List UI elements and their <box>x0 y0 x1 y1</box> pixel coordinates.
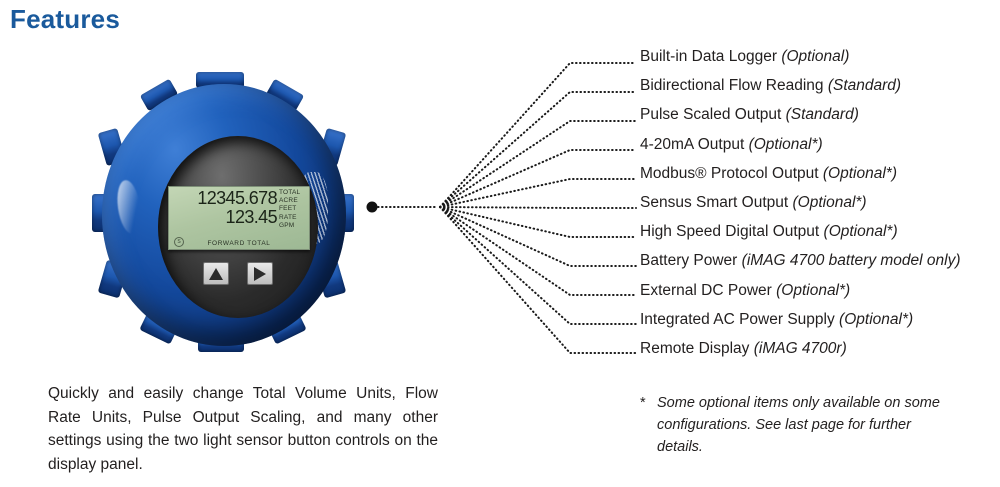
feature-item: Pulse Scaled Output (Standard) <box>640 100 1000 129</box>
feature-qualifier: (Optional*) <box>824 223 898 240</box>
meter-caption-text: Quickly and easily change Total Volume U… <box>48 382 438 476</box>
feature-qualifier: (iMAG 4700r) <box>754 340 847 357</box>
feature-label: Integrated AC Power Supply <box>640 311 835 328</box>
feature-item: External DC Power (Optional*) <box>640 276 1000 305</box>
features-list: Built-in Data Logger (Optional) Bidirect… <box>640 42 1000 363</box>
feature-item: Remote Display (iMAG 4700r) <box>640 334 1000 363</box>
lcd-display: 12345.678 123.45 TOTAL ACRE FEET RATE GP… <box>168 186 310 250</box>
feature-qualifier: (Optional*) <box>776 282 850 299</box>
lcd-rate-value: 123.45 <box>173 208 277 227</box>
footnote-marker: * <box>640 392 646 414</box>
feature-item: Integrated AC Power Supply (Optional*) <box>640 305 1000 334</box>
feature-item: Modbus® Protocol Output (Optional*) <box>640 159 1000 188</box>
right-arrow-icon <box>254 267 266 281</box>
meter-housing: 12345.678 123.45 TOTAL ACRE FEET RATE GP… <box>102 84 346 346</box>
feature-qualifier: (Optional*) <box>839 311 913 328</box>
feature-label: Bidirectional Flow Reading <box>640 77 824 94</box>
feature-item: Battery Power (iMAG 4700 battery model o… <box>640 246 1000 275</box>
feature-qualifier: (Optional*) <box>793 194 867 211</box>
feature-item: Built-in Data Logger (Optional) <box>640 42 1000 71</box>
feature-qualifier: (iMAG 4700 battery model only) <box>742 252 961 269</box>
feature-label: High Speed Digital Output <box>640 223 819 240</box>
lcd-unit-line: RATE <box>279 214 309 222</box>
feature-item: Sensus Smart Output (Optional*) <box>640 188 1000 217</box>
feature-label: Pulse Scaled Output <box>640 106 781 123</box>
feature-label: Sensus Smart Output <box>640 194 788 211</box>
callout-origin-dot <box>367 202 378 213</box>
lcd-unit-line: GPM <box>279 222 309 230</box>
lcd-mode-label: FORWARD TOTAL <box>169 240 309 247</box>
lcd-unit-line: ACRE <box>279 197 309 205</box>
feature-item: High Speed Digital Output (Optional*) <box>640 217 1000 246</box>
feature-qualifier: (Optional*) <box>749 136 823 153</box>
feature-label: Remote Display <box>640 340 749 357</box>
flow-meter-illustration: 12345.678 123.45 TOTAL ACRE FEET RATE GP… <box>88 72 360 360</box>
footnote-text: Some optional items only available on so… <box>640 392 960 458</box>
feature-label: 4-20mA Output <box>640 136 744 153</box>
feature-item: Bidirectional Flow Reading (Standard) <box>640 71 1000 100</box>
right-arrow-button[interactable] <box>247 262 273 285</box>
housing-highlight-left <box>114 179 143 236</box>
footnote: * Some optional items only available on … <box>640 392 960 458</box>
feature-qualifier: (Standard) <box>786 106 859 123</box>
lcd-unit-line: TOTAL <box>279 189 309 197</box>
feature-label: External DC Power <box>640 282 772 299</box>
button-strip <box>182 258 294 296</box>
up-arrow-icon <box>209 268 223 280</box>
feature-item: 4-20mA Output (Optional*) <box>640 130 1000 159</box>
lcd-unit-labels: TOTAL ACRE FEET RATE GPM <box>279 189 309 230</box>
lcd-total-value: 12345.678 <box>173 189 277 208</box>
meter-bezel: 12345.678 123.45 TOTAL ACRE FEET RATE GP… <box>158 136 318 318</box>
feature-label: Built-in Data Logger <box>640 48 777 65</box>
feature-qualifier: (Optional) <box>781 48 849 65</box>
feature-label: Modbus® Protocol Output <box>640 165 819 182</box>
feature-qualifier: (Standard) <box>828 77 901 94</box>
lcd-unit-line: FEET <box>279 205 309 213</box>
page-title: Features <box>10 4 120 35</box>
feature-qualifier: (Optional*) <box>823 165 897 182</box>
up-arrow-button[interactable] <box>203 262 229 285</box>
feature-label: Battery Power <box>640 252 737 269</box>
